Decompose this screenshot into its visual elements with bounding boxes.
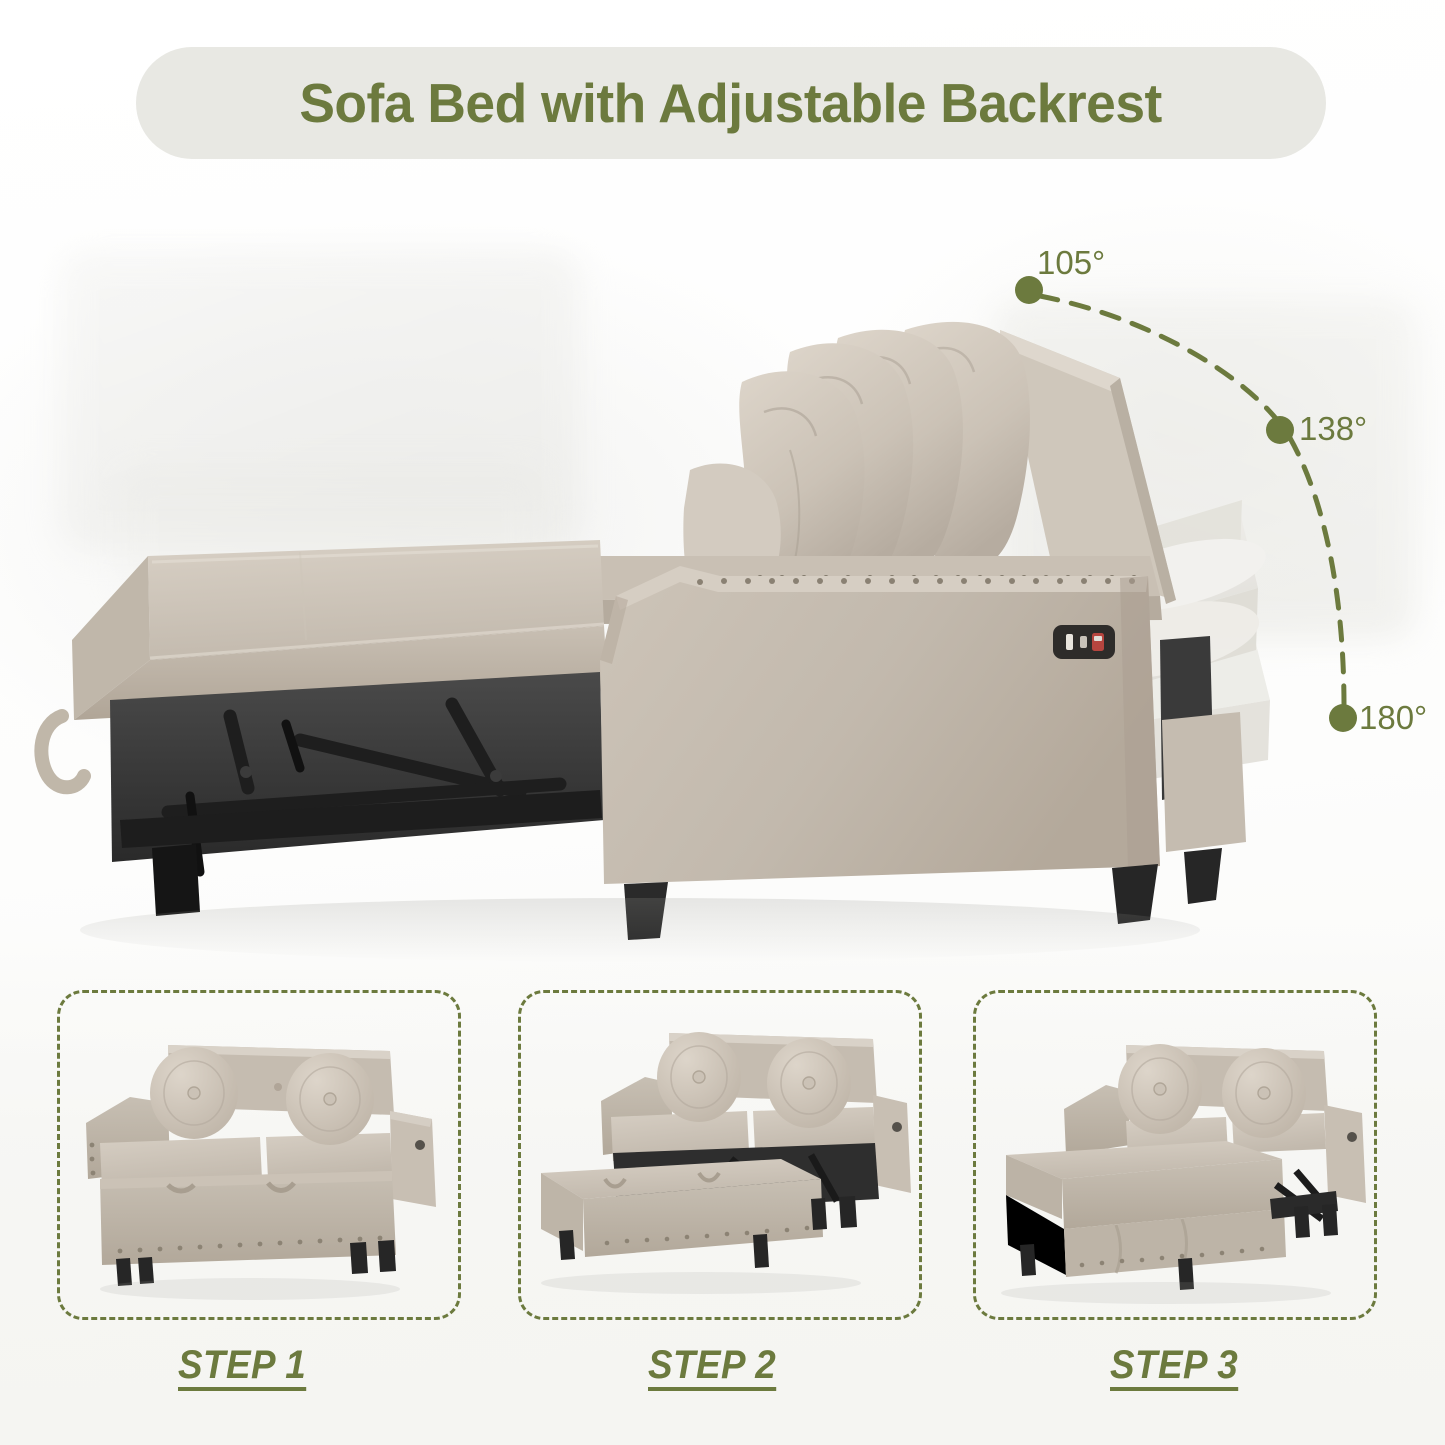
usb-charging-port bbox=[1053, 625, 1115, 659]
page-title: Sofa Bed with Adjustable Backrest bbox=[300, 71, 1163, 135]
steps-section: STEP 1 STEP 2 STEP 3 bbox=[0, 990, 1445, 1445]
step-card-2 bbox=[518, 990, 922, 1320]
round-pillow-right bbox=[767, 1038, 851, 1128]
bed-frame-mechanism bbox=[110, 672, 604, 916]
step-label-2: STEP 2 bbox=[648, 1343, 776, 1388]
pullout-drawer bbox=[541, 1159, 823, 1268]
sofa-base-right bbox=[1162, 712, 1246, 904]
step-card-3 bbox=[973, 990, 1377, 1320]
ground-shadow bbox=[80, 898, 1200, 962]
step-label-1: STEP 1 bbox=[178, 1343, 306, 1388]
infographic-canvas: 105° 138° 180° Sofa Bed with Adjustable … bbox=[0, 0, 1445, 1445]
pull-strap-handle bbox=[41, 716, 84, 787]
round-pillow-left bbox=[657, 1032, 741, 1122]
step-card-1 bbox=[57, 990, 461, 1320]
round-pillow-left bbox=[1118, 1044, 1202, 1134]
round-pillow-left bbox=[150, 1047, 238, 1139]
step-label-3: STEP 3 bbox=[1110, 1343, 1238, 1388]
round-pillow-right bbox=[286, 1053, 374, 1145]
extended-bed-platform bbox=[1006, 1141, 1286, 1277]
round-pillow-right bbox=[1222, 1048, 1306, 1138]
sofa-near-arm bbox=[600, 566, 1160, 884]
page-title-banner: Sofa Bed with Adjustable Backrest bbox=[136, 47, 1326, 159]
